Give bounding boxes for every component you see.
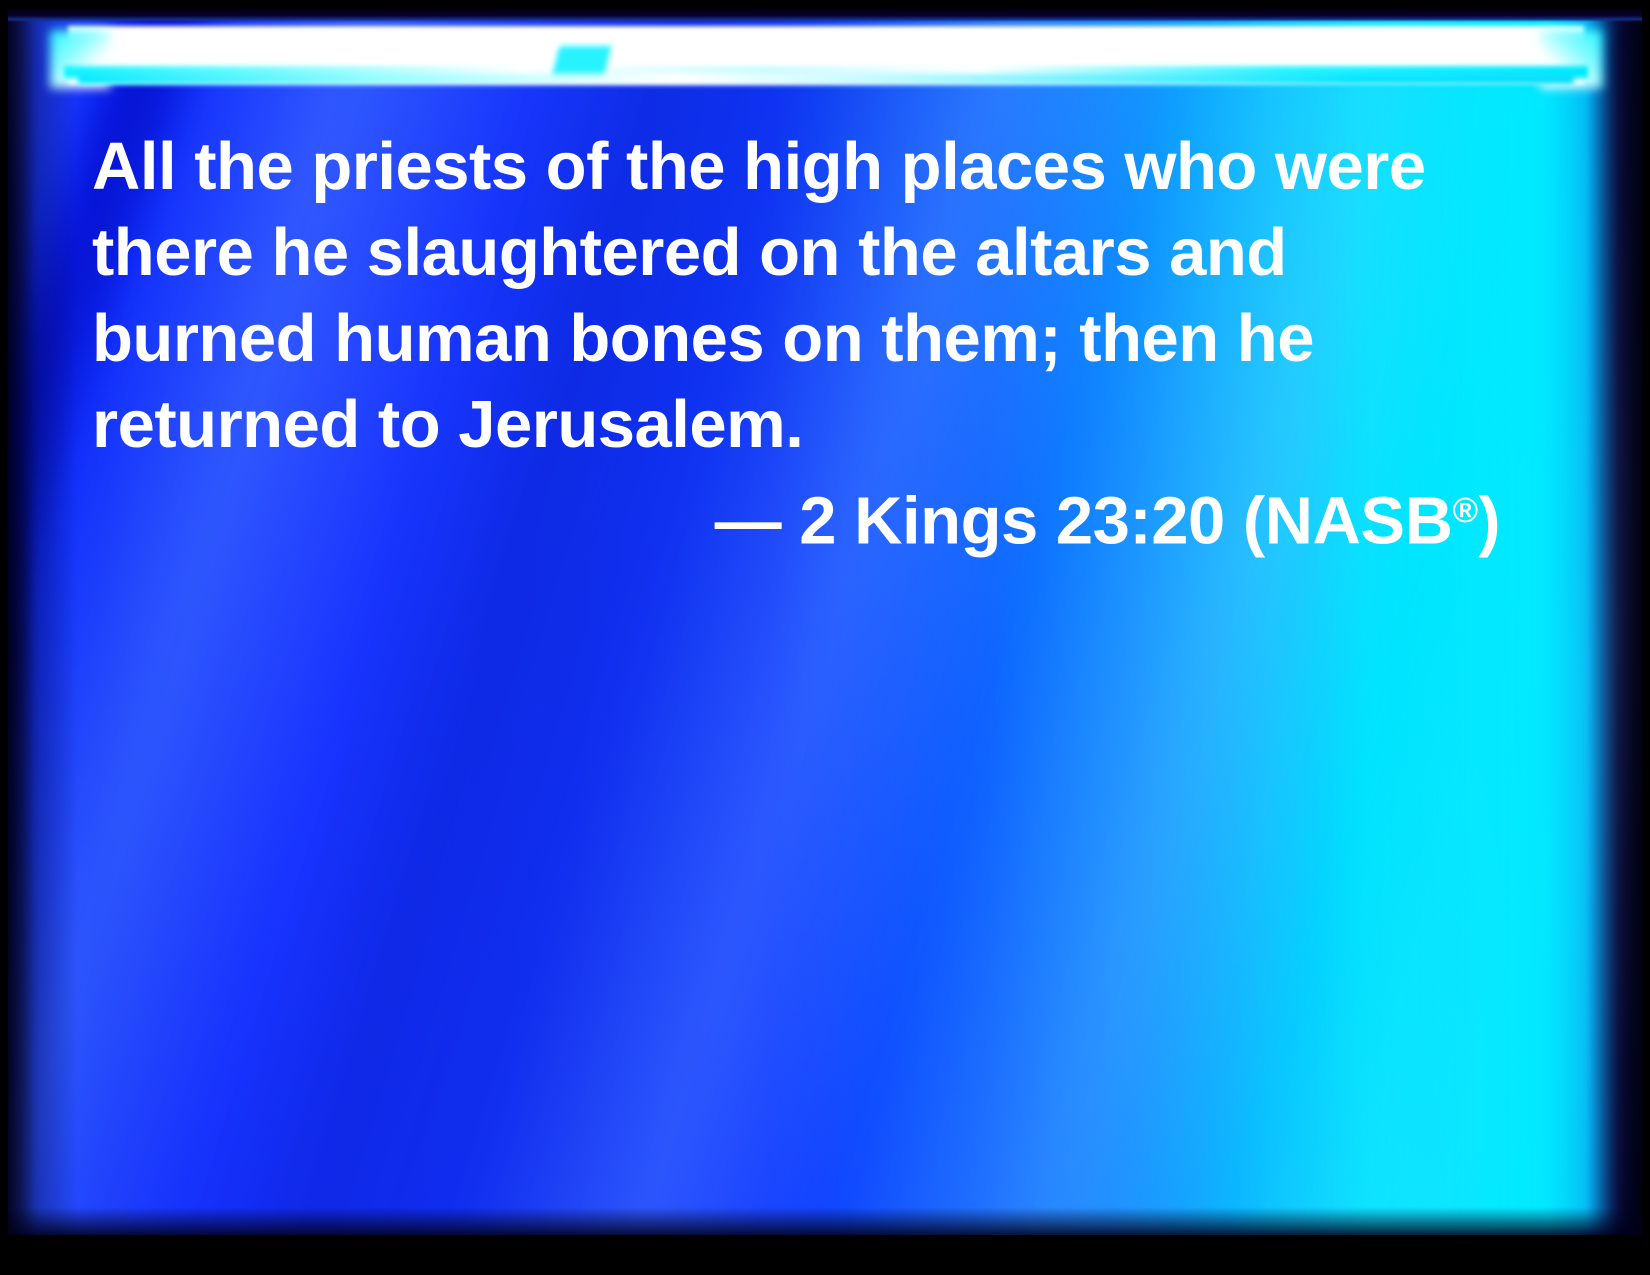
background-right-vignette xyxy=(1586,8,1642,1235)
top-hairline xyxy=(8,8,1642,22)
background-left-vignette xyxy=(8,8,78,1235)
verse-attribution: — 2 Kings 23:20 (NASB®) xyxy=(92,468,1500,565)
registered-trademark-icon: ® xyxy=(1453,491,1479,530)
attribution-suffix: ) xyxy=(1478,484,1500,559)
slide-canvas: All the priests of the high places who w… xyxy=(8,8,1642,1235)
top-band-lower-glow xyxy=(78,74,1574,84)
verse-text: All the priests of the high places who w… xyxy=(92,124,1512,468)
background-bottom-vignette xyxy=(8,1207,1642,1235)
attribution-prefix: — 2 Kings 23:20 (NASB xyxy=(715,484,1453,559)
slide-frame: All the priests of the high places who w… xyxy=(0,0,1650,1275)
top-band-center-notch xyxy=(553,46,612,74)
